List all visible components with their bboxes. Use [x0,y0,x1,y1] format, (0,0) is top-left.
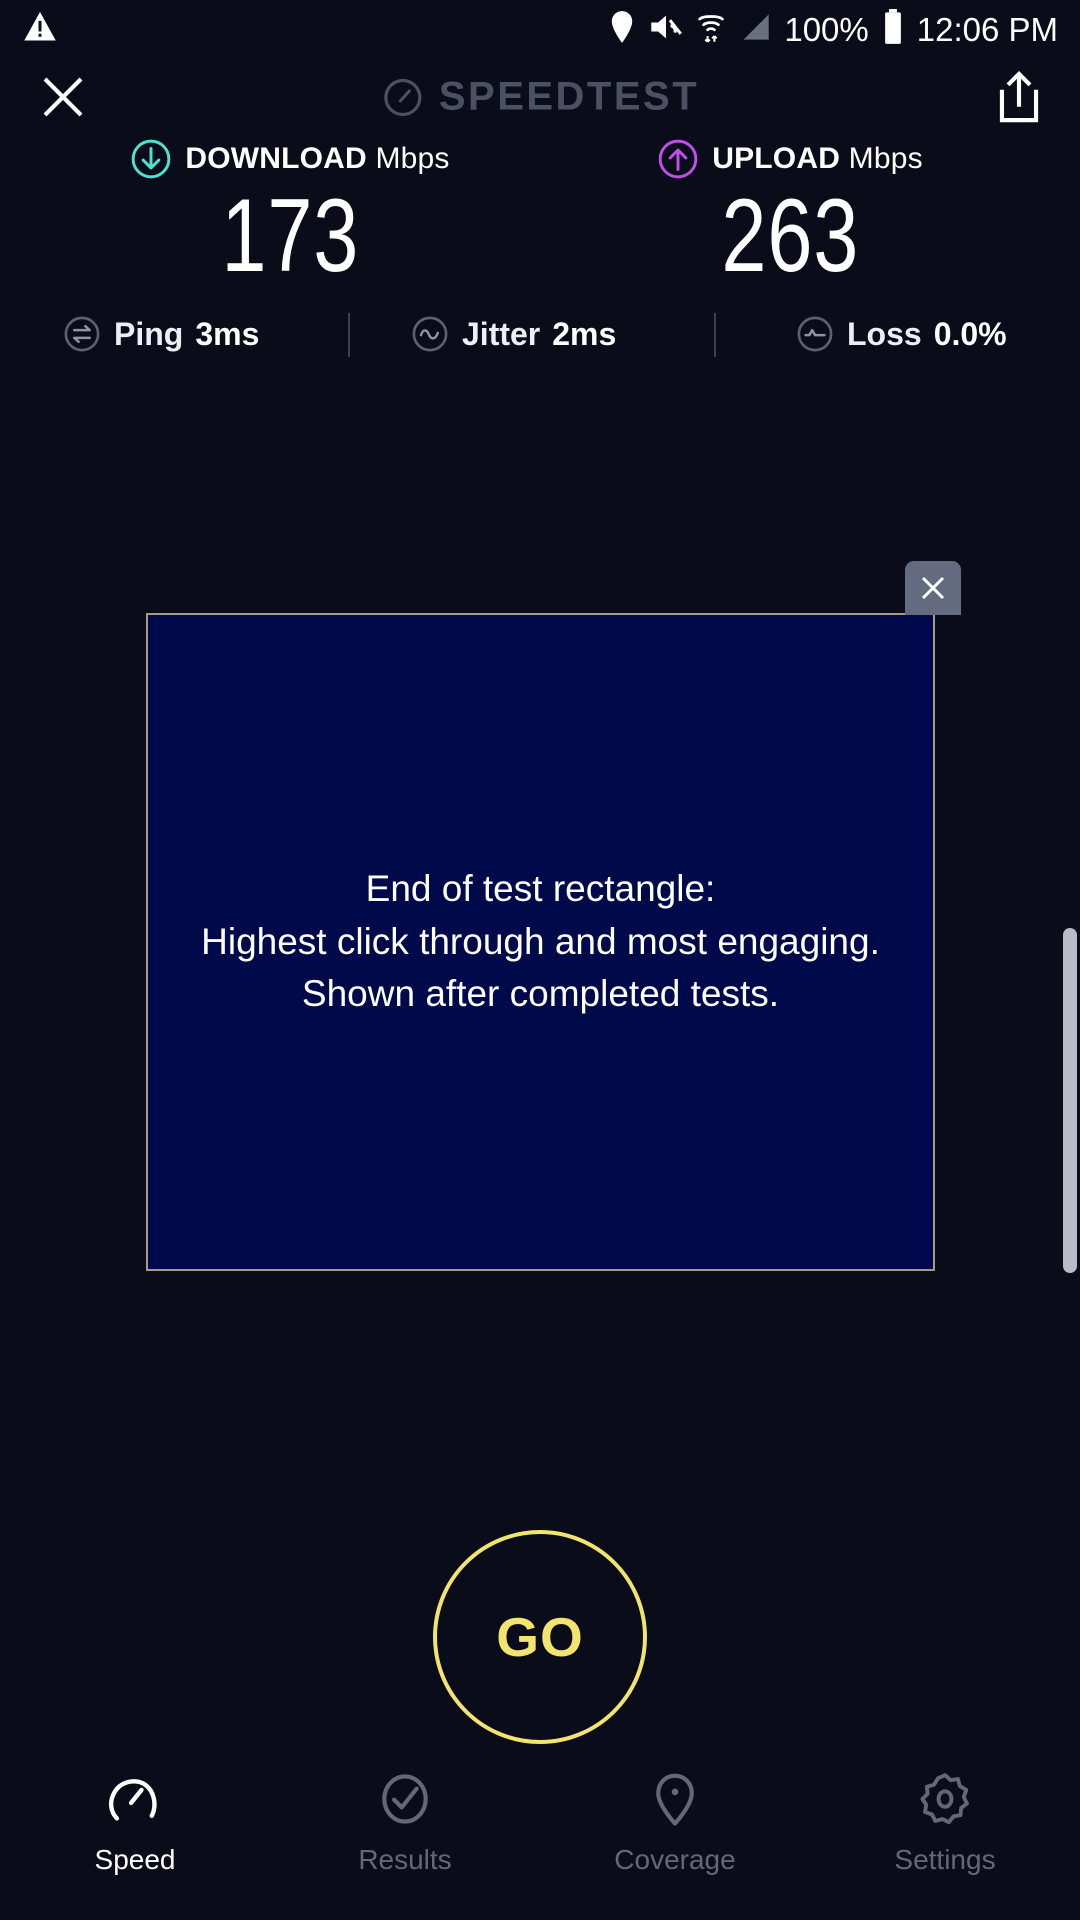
share-icon [994,69,1044,125]
warning-triangle-icon [22,9,58,50]
ping-value: 3ms [195,316,259,353]
battery-percent-label: 100% [784,13,868,46]
cellular-signal-icon [739,12,771,47]
vertical-scrollbar[interactable] [1063,928,1077,1273]
jitter-wave-icon [410,314,450,354]
nav-item-results[interactable]: Results [270,1752,540,1920]
upload-value: 263 [721,182,859,291]
nav-label-settings: Settings [894,1844,995,1876]
speedtest-app-screen: 100% 12:06 PM SPEEDTEST [0,0,1080,1920]
battery-full-icon [882,9,904,50]
metric-ping: Ping 3ms [62,314,259,354]
ad-text: End of test rectangle: Highest click thr… [201,863,880,1021]
ad-close-button[interactable] [905,561,961,615]
settings-gear-icon [914,1766,976,1832]
ad-line-1: End of test rectangle: [201,863,880,916]
ping-label: Ping [114,316,183,353]
speeds-row: DOWNLOAD Mbps 173 UPLOAD Mbps 263 [0,138,1080,291]
results-check-icon [374,1766,436,1832]
loss-value: 0.0% [934,316,1007,353]
loss-label: Loss [847,316,922,353]
metric-divider-1 [348,313,350,357]
speed-gauge-icon [104,1766,166,1832]
loss-dashes-icon [795,314,835,354]
download-result: DOWNLOAD Mbps 173 [100,138,480,291]
close-button[interactable] [32,66,94,128]
metrics-row: Ping 3ms Jitter 2ms Loss 0.0% [0,305,1080,363]
clock-label: 12:06 PM [917,13,1058,46]
download-arrow-icon [130,138,172,180]
download-header: DOWNLOAD Mbps [130,138,449,180]
nav-label-speed: Speed [95,1844,176,1876]
ad-close-icon [918,573,948,603]
brand-title: SPEEDTEST [439,75,699,120]
ad-line-2: Highest click through and most engaging. [201,916,880,969]
location-pin-icon [608,10,636,49]
close-icon [39,73,87,121]
upload-result: UPLOAD Mbps 263 [600,138,980,291]
jitter-value: 2ms [552,316,616,353]
share-button[interactable] [988,66,1050,128]
download-label: DOWNLOAD Mbps [185,142,449,176]
upload-header: UPLOAD Mbps [657,138,923,180]
wifi-icon [696,10,726,49]
status-bar-left [22,9,58,50]
go-button[interactable]: GO [433,1530,647,1744]
download-value: 173 [221,182,359,291]
upload-label: UPLOAD Mbps [712,142,923,176]
test-results: DOWNLOAD Mbps 173 UPLOAD Mbps 263 [0,138,1080,291]
speedtest-gauge-icon [381,75,425,119]
nav-label-coverage: Coverage [614,1844,735,1876]
status-bar-right: 100% 12:06 PM [608,9,1058,50]
status-bar: 100% 12:06 PM [0,0,1080,58]
go-button-label: GO [496,1605,584,1669]
metric-jitter: Jitter 2ms [410,314,616,354]
ad-banner[interactable]: End of test rectangle: Highest click thr… [146,613,935,1271]
nav-item-speed[interactable]: Speed [0,1752,270,1920]
brand-logo: SPEEDTEST [381,75,699,120]
jitter-label: Jitter [462,316,540,353]
bottom-navigation: Speed Results Coverage [0,1752,1080,1920]
nav-item-coverage[interactable]: Coverage [540,1752,810,1920]
volume-muted-icon [649,12,683,47]
metric-divider-2 [714,313,716,357]
app-header: SPEEDTEST [0,58,1080,136]
coverage-pin-icon [644,1766,706,1832]
ping-exchange-icon [62,314,102,354]
ad-line-3: Shown after completed tests. [201,968,880,1021]
upload-arrow-icon [657,138,699,180]
advertisement: End of test rectangle: Highest click thr… [146,613,935,1271]
metric-loss: Loss 0.0% [795,314,1007,354]
nav-label-results: Results [358,1844,451,1876]
nav-item-settings[interactable]: Settings [810,1752,1080,1920]
